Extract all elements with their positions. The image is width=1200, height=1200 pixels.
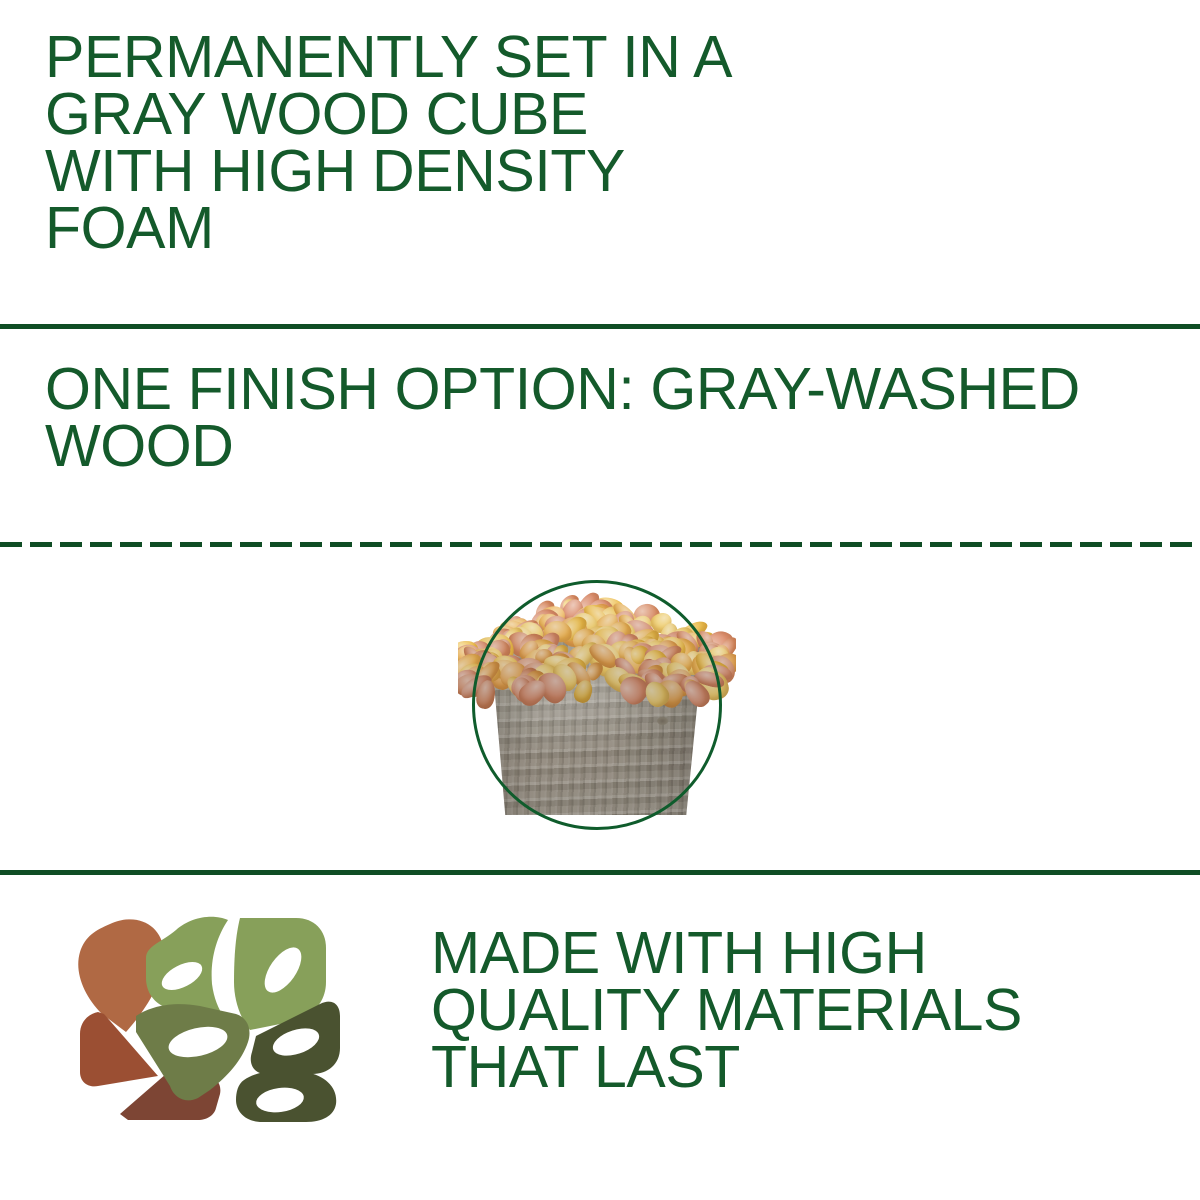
section-divider-solid-top [0, 324, 1200, 329]
product-photo-image [458, 590, 736, 820]
feature-2-headline: ONE FINISH OPTION: GRAY-WASHED WOOD [45, 361, 1175, 475]
brand-logo-alt: leaf mosaic brand logo [343, 908, 344, 909]
section-divider-dashed [0, 542, 1200, 547]
product-photo: gray-washed wood cube planter with yello… [472, 580, 722, 830]
product-photo-alt: gray-washed wood cube planter with yello… [472, 580, 473, 581]
wood-knot [657, 717, 668, 725]
brand-logo: leaf mosaic brand logo [58, 908, 343, 1123]
infographic-page: PERMANENTLY SET IN A GRAY WOOD CUBE WITH… [0, 0, 1200, 1200]
flower-arrangement [464, 592, 730, 688]
section-divider-solid-bottom [0, 870, 1200, 875]
leaf-mosaic-icon [58, 908, 343, 1123]
feature-4-headline: MADE WITH HIGH QUALITY MATERIALS THAT LA… [431, 925, 1171, 1096]
feature-1-headline: PERMANENTLY SET IN A GRAY WOOD CUBE WITH… [45, 29, 1155, 257]
